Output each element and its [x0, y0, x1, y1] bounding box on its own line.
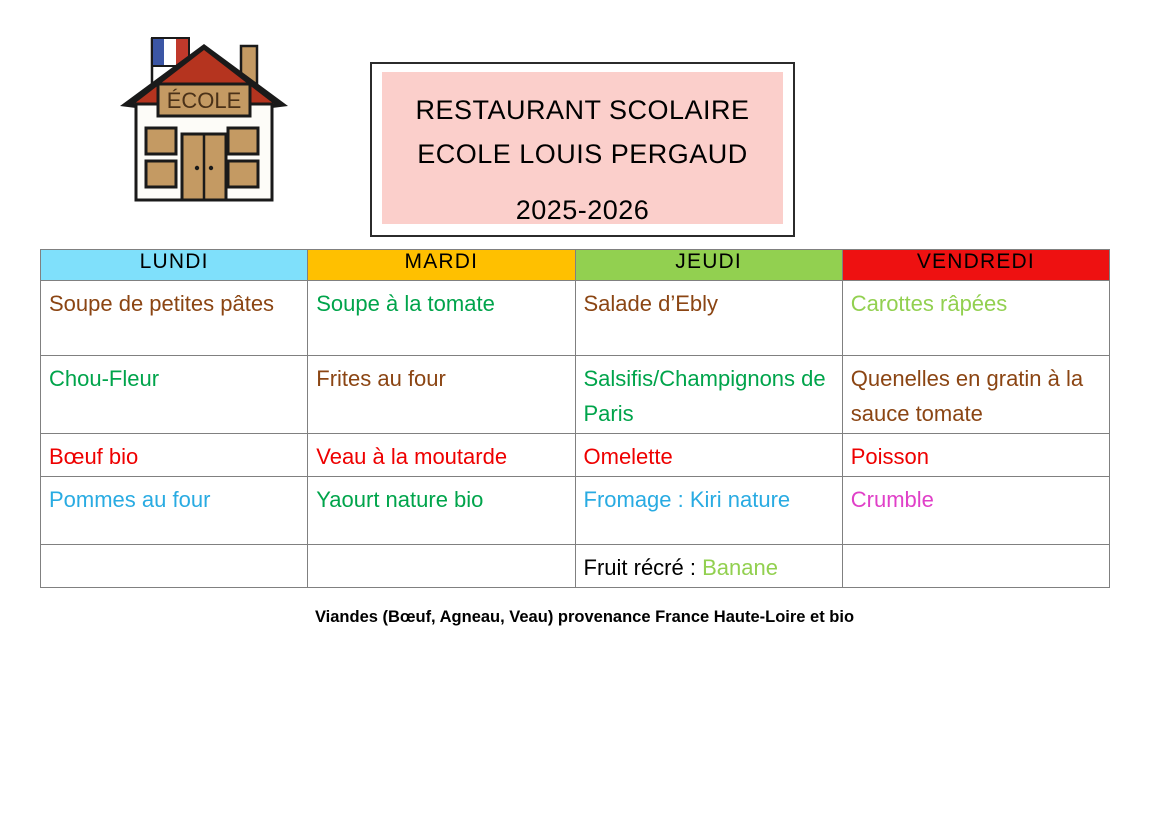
window-top-left: [146, 128, 176, 154]
menu-item: Quenelles en gratin à la sauce tomate: [843, 356, 1109, 433]
menu-cell: [842, 545, 1109, 588]
menu-item: Salsifis/Champignons de Paris: [576, 356, 842, 433]
menu-cell: Soupe à la tomate: [308, 281, 575, 356]
menu-item: Salade d’Ebly: [576, 281, 842, 323]
menu-item: Veau à la moutarde: [308, 434, 574, 476]
snack-item: Fruit récré : Banane: [576, 545, 842, 587]
menu-cell: Quenelles en gratin à la sauce tomate: [842, 356, 1109, 434]
menu-cell: Veau à la moutarde: [308, 434, 575, 477]
table-row-main-dish: Bœuf bio Veau à la moutarde Omelette Poi…: [41, 434, 1110, 477]
title-fill: RESTAURANT SCOLAIRE ECOLE LOUIS PERGAUD …: [382, 72, 783, 224]
menu-cell: Salade d’Ebly: [575, 281, 842, 356]
menu-item: Frites au four: [308, 356, 574, 398]
title-box: RESTAURANT SCOLAIRE ECOLE LOUIS PERGAUD …: [370, 62, 795, 237]
title-line-year: 2025-2026: [516, 188, 650, 232]
menu-item: Pommes au four: [41, 477, 307, 519]
menu-cell: Poisson: [842, 434, 1109, 477]
snack-label: Fruit récré :: [584, 555, 703, 580]
menu-cell: Carottes râpées: [842, 281, 1109, 356]
menu-cell: [41, 545, 308, 588]
menu-item: Chou-Fleur: [41, 356, 307, 398]
menu-item: Soupe de petites pâtes: [41, 281, 307, 323]
menu-cell: [308, 545, 575, 588]
menu-cell: Fruit récré : Banane: [575, 545, 842, 588]
column-header-vendredi: VENDREDI: [842, 250, 1109, 281]
menu-cell: Omelette: [575, 434, 842, 477]
table-row-snack: Fruit récré : Banane: [41, 545, 1110, 588]
menu-item-empty: [308, 545, 574, 552]
door-knob-right: [209, 166, 213, 170]
menu-cell: Yaourt nature bio: [308, 477, 575, 545]
menu-item: Poisson: [843, 434, 1109, 476]
menu-item: Omelette: [576, 434, 842, 476]
menu-item: Soupe à la tomate: [308, 281, 574, 323]
menu-item: Yaourt nature bio: [308, 477, 574, 519]
menu-item: Bœuf bio: [41, 434, 307, 476]
menu-cell: Soupe de petites pâtes: [41, 281, 308, 356]
door-knob-left: [195, 166, 199, 170]
window-bottom-right: [228, 161, 258, 187]
title-line-school: ECOLE LOUIS PERGAUD: [417, 132, 748, 176]
menu-item-empty: [41, 545, 307, 552]
menu-cell: Bœuf bio: [41, 434, 308, 477]
table-row-entree: Soupe de petites pâtes Soupe à la tomate…: [41, 281, 1110, 356]
menu-item: Crumble: [843, 477, 1109, 519]
menu-item: Carottes râpées: [843, 281, 1109, 323]
column-header-lundi: LUNDI: [41, 250, 308, 281]
window-bottom-left: [146, 161, 176, 187]
ecole-sign-label: ÉCOLE: [167, 88, 242, 113]
menu-cell: Pommes au four: [41, 477, 308, 545]
menu-item-empty: [843, 545, 1109, 552]
table-row-dessert: Pommes au four Yaourt nature bio Fromage…: [41, 477, 1110, 545]
title-line-restaurant: RESTAURANT SCOLAIRE: [415, 88, 749, 132]
meat-origin-note: Viandes (Bœuf, Agneau, Veau) provenance …: [0, 608, 1169, 627]
menu-item: Fromage : Kiri nature: [576, 477, 842, 519]
menu-cell: Chou-Fleur: [41, 356, 308, 434]
menu-cell: Salsifis/Champignons de Paris: [575, 356, 842, 434]
menu-cell: Fromage : Kiri nature: [575, 477, 842, 545]
menu-table-header-row: LUNDI MARDI JEUDI VENDREDI: [41, 250, 1110, 281]
column-header-mardi: MARDI: [308, 250, 575, 281]
school-building-illustration: ÉCOLE: [112, 28, 312, 228]
menu-cell: Frites au four: [308, 356, 575, 434]
snack-fruit-name: Banane: [702, 555, 778, 580]
table-row-side-dish: Chou-Fleur Frites au four Salsifis/Champ…: [41, 356, 1110, 434]
menu-cell: Crumble: [842, 477, 1109, 545]
window-top-right: [228, 128, 258, 154]
weekly-menu-table: LUNDI MARDI JEUDI VENDREDI Soupe de peti…: [40, 249, 1110, 588]
school-drawing-svg: ÉCOLE: [112, 28, 312, 228]
column-header-jeudi: JEUDI: [575, 250, 842, 281]
